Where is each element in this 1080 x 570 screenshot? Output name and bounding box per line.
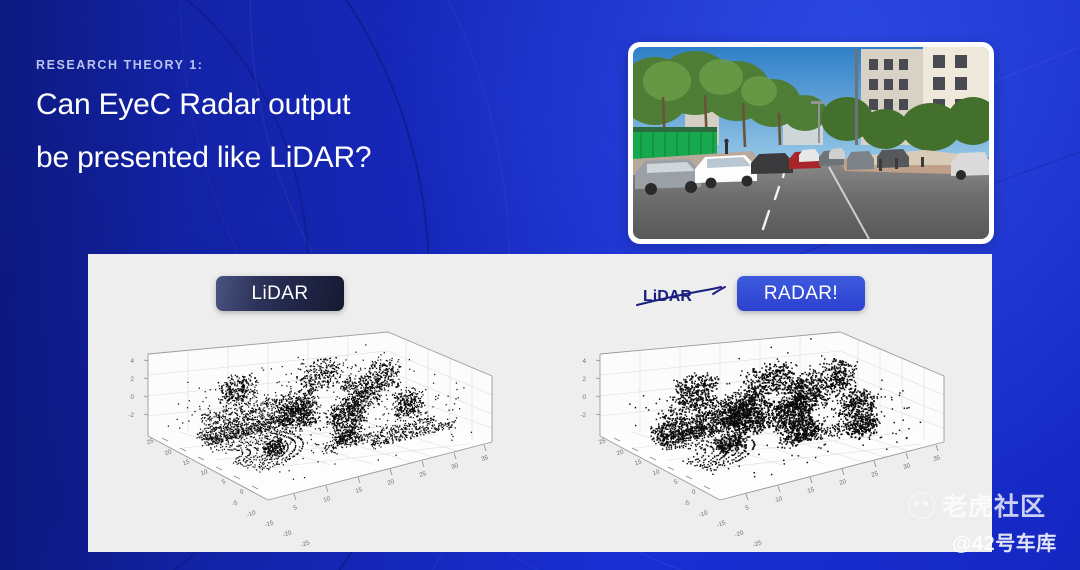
radar-badge: RADAR! xyxy=(737,276,865,311)
svg-text:5: 5 xyxy=(221,478,227,486)
svg-text:-20: -20 xyxy=(282,529,293,539)
street-photo-card xyxy=(628,42,994,244)
svg-text:5: 5 xyxy=(293,504,299,512)
svg-text:-2: -2 xyxy=(128,412,134,419)
svg-text:4: 4 xyxy=(131,358,135,365)
radar-point-cloud-chart: 4 2 0 -2 25 20 15 10 xyxy=(540,314,992,552)
svg-text:0: 0 xyxy=(239,488,245,496)
svg-text:10: 10 xyxy=(323,495,332,504)
svg-text:30: 30 xyxy=(451,462,460,471)
page-title-line1: Can EyeC Radar output xyxy=(36,85,371,125)
svg-text:-15: -15 xyxy=(264,519,275,529)
street-photo xyxy=(633,47,989,239)
svg-text:-25: -25 xyxy=(300,539,311,549)
svg-text:25: 25 xyxy=(419,470,428,479)
svg-text:20: 20 xyxy=(387,478,396,487)
lidar-point-cloud-chart: 4 2 0 -2 25 20 15 1 xyxy=(88,314,540,552)
radar-plot-group: LiDAR RADAR! xyxy=(540,254,992,552)
svg-text:2: 2 xyxy=(131,376,135,383)
svg-text:10: 10 xyxy=(200,468,209,477)
lidar-badge: LiDAR xyxy=(216,276,344,311)
svg-text:20: 20 xyxy=(164,448,173,457)
svg-text:15: 15 xyxy=(355,486,364,495)
svg-text:15: 15 xyxy=(182,458,191,467)
svg-text:0: 0 xyxy=(131,394,135,401)
headline-block: RESEARCH THEORY 1: Can EyeC Radar output… xyxy=(36,58,371,178)
svg-text:-10: -10 xyxy=(246,509,257,519)
page-title-line2: be presented like LiDAR? xyxy=(36,138,371,178)
lidar-strikethrough-annotation: LiDAR xyxy=(635,278,735,312)
svg-text:-5: -5 xyxy=(231,499,239,508)
lidar-plot-group: LiDAR xyxy=(88,254,540,552)
svg-text:35: 35 xyxy=(481,454,490,463)
eyebrow-label: RESEARCH THEORY 1: xyxy=(36,58,371,72)
comparison-panel: LiDAR xyxy=(88,254,992,552)
